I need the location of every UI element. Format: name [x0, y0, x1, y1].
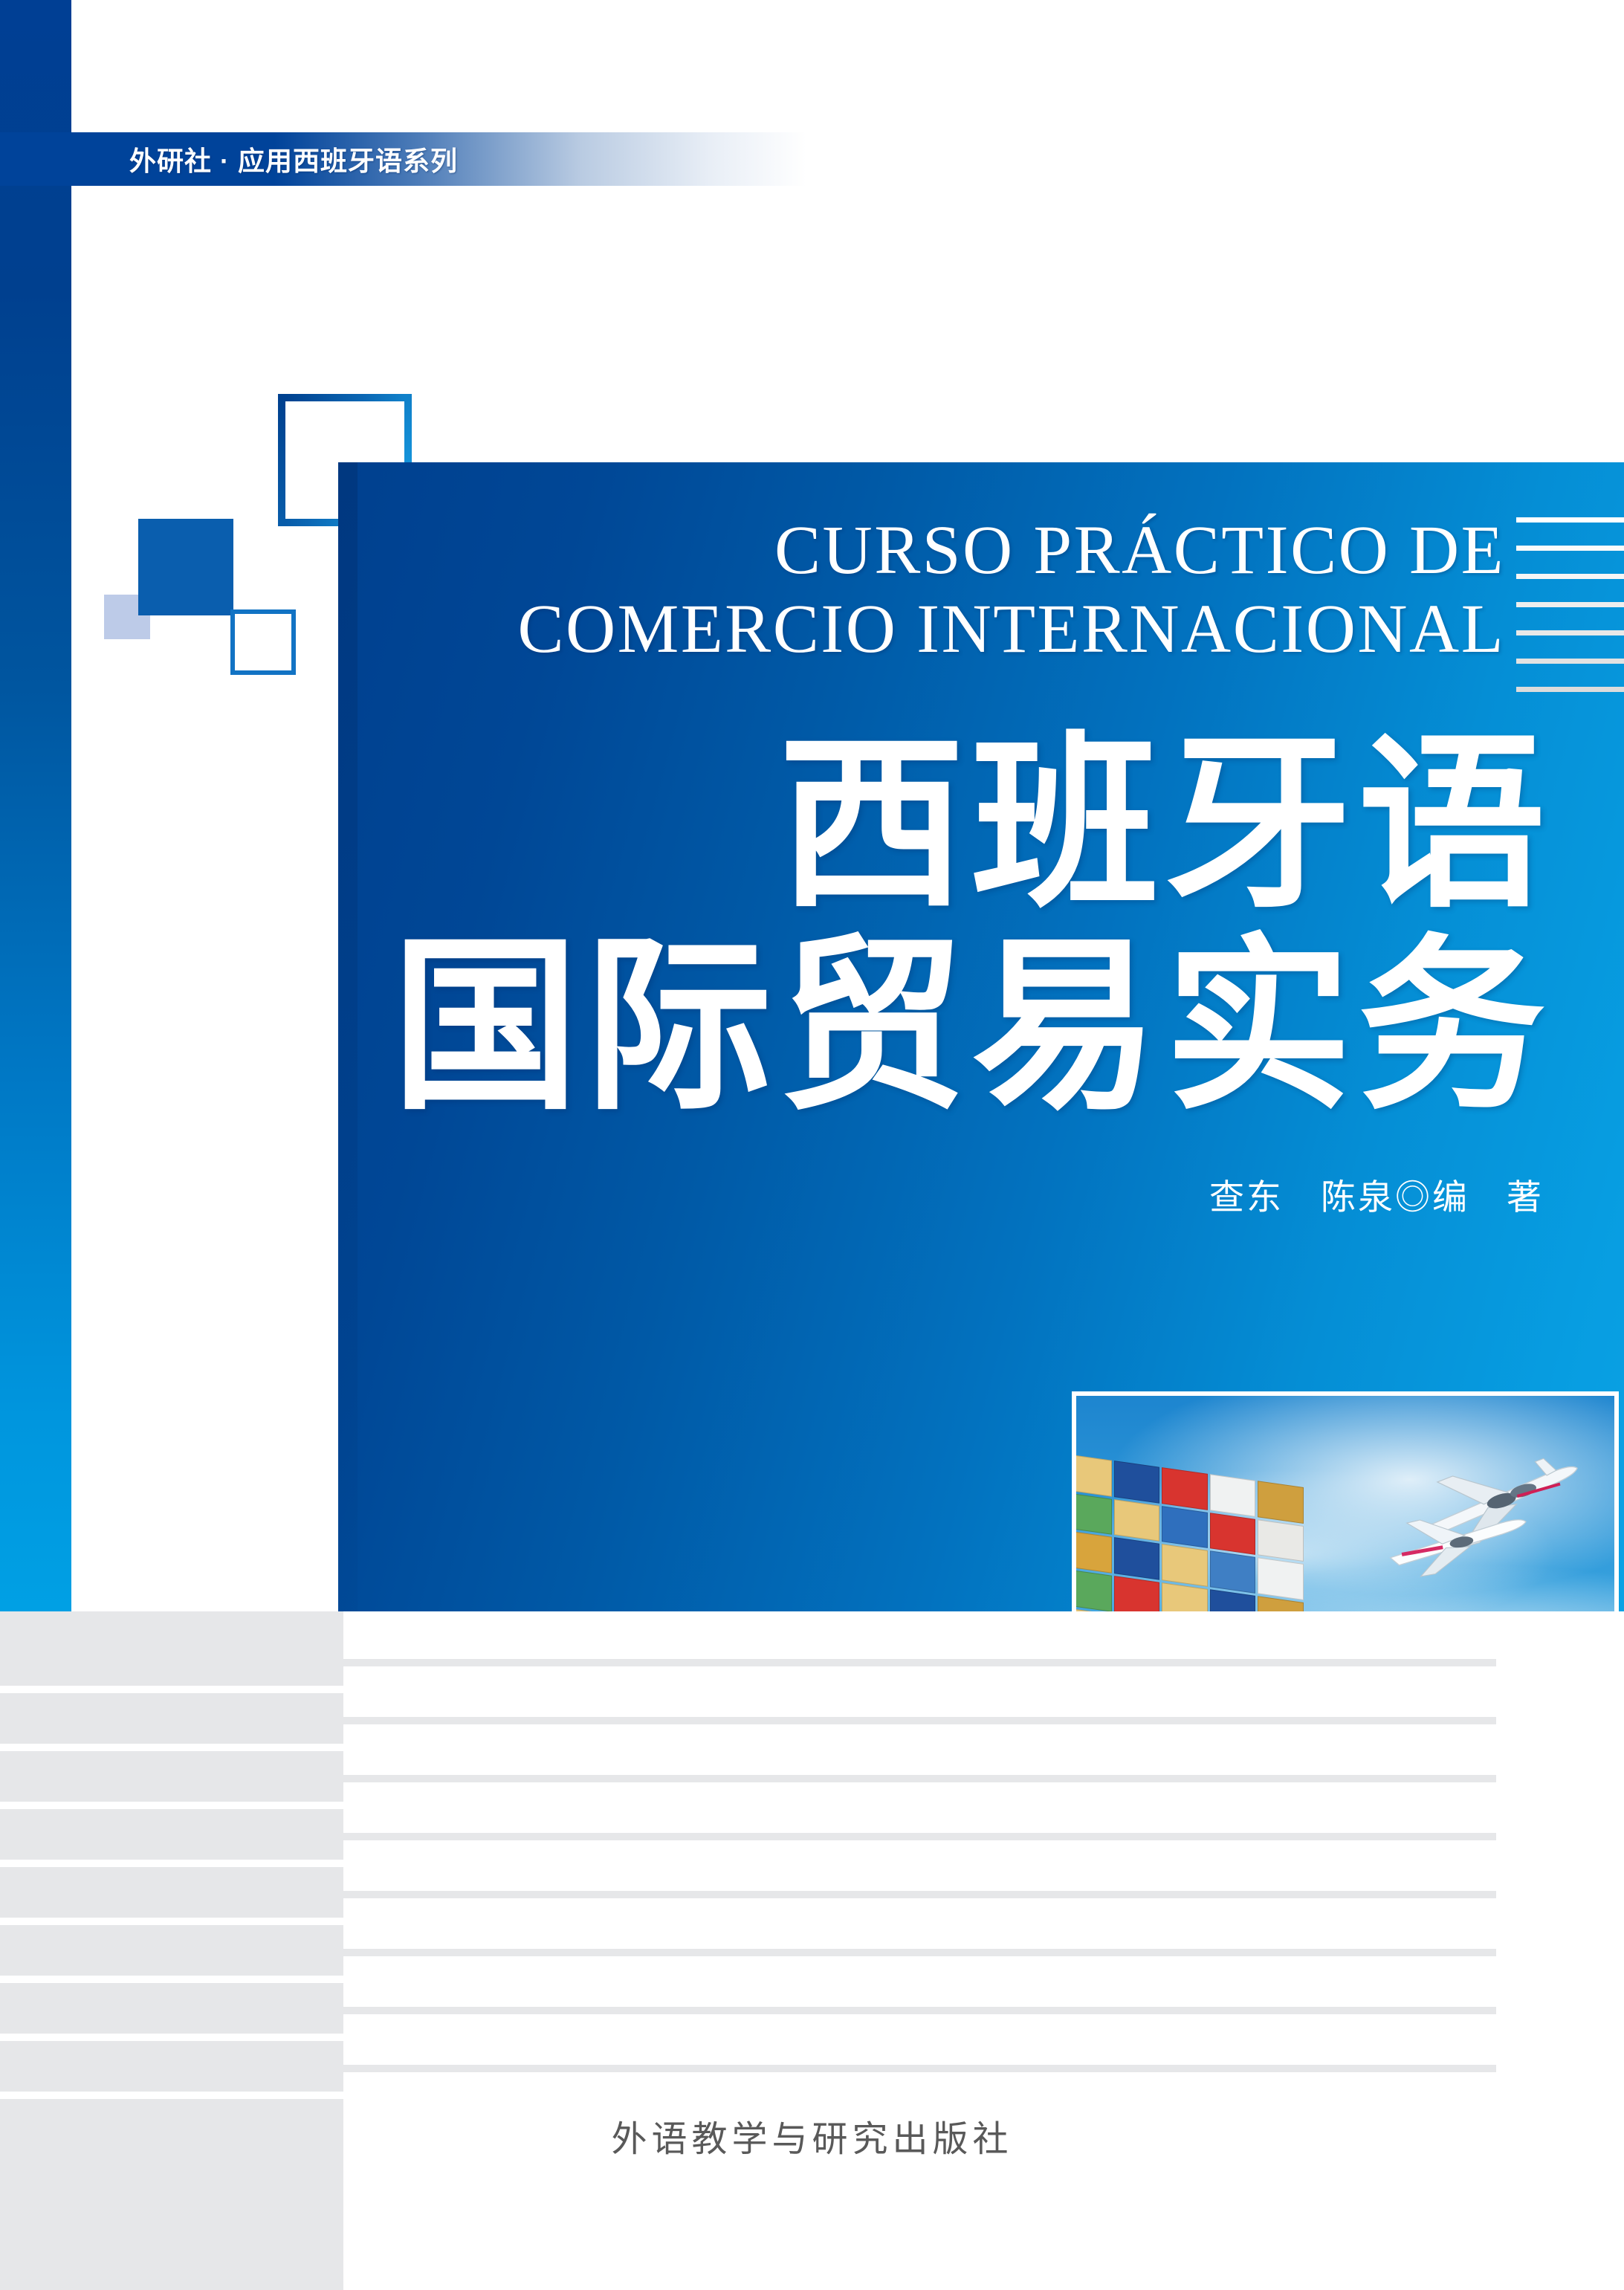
decorative-line: [1516, 574, 1624, 579]
decorative-line: [1516, 659, 1624, 664]
bottom-gray-separator: [0, 1976, 343, 1983]
chinese-title: 西班牙语 国际贸易实务: [338, 724, 1551, 1128]
shipping-container: [1258, 1481, 1304, 1523]
author-line: 查东 陈泉◎编 著: [338, 1168, 1544, 1220]
decorative-line: [1516, 630, 1624, 635]
bottom-stripe: [343, 2065, 1496, 2072]
shipping-container: [1210, 1550, 1256, 1593]
bottom-stripe: [343, 1659, 1496, 1666]
bottom-stripe: [343, 1891, 1496, 1898]
bottom-stripe: [343, 1949, 1496, 1956]
bottom-left-gray-column: [0, 1611, 343, 2290]
shipping-container: [1258, 1519, 1304, 1562]
airplane-secondary-icon: [1378, 1500, 1534, 1585]
shipping-container: [1114, 1461, 1160, 1503]
chinese-title-line-1: 西班牙语: [338, 724, 1551, 926]
series-banner: 外研社 · 应用西班牙语系列: [0, 132, 806, 186]
bottom-gray-separator: [0, 1860, 343, 1867]
shipping-container: [1162, 1467, 1208, 1510]
shipping-container: [1162, 1506, 1208, 1548]
decorative-square-filled-blue: [138, 519, 233, 615]
series-banner-label: 外研社 · 应用西班牙语系列: [129, 140, 458, 178]
shipping-container: [1072, 1454, 1112, 1496]
publisher-name: 外语教学与研究出版社: [0, 2109, 1624, 2161]
bottom-gray-separator: [0, 2092, 343, 2099]
bottom-stripe-section: [0, 1611, 1624, 2290]
shipping-container: [1258, 1558, 1304, 1600]
bottom-stripe: [343, 1833, 1496, 1840]
spanish-title-line-2: COMERCIO INTERNACIONAL: [338, 590, 1505, 669]
decorative-line: [1516, 546, 1624, 551]
shipping-container: [1162, 1544, 1208, 1586]
shipping-container: [1072, 1530, 1112, 1573]
shipping-container: [1210, 1513, 1256, 1555]
bottom-gray-separator: [0, 1802, 343, 1809]
bottom-gray-separator: [0, 1686, 343, 1693]
decorative-line: [1516, 602, 1624, 607]
bottom-gray-separator: [0, 1918, 343, 1925]
bottom-gray-separator: [0, 2034, 343, 2041]
shipping-container: [1072, 1492, 1112, 1535]
chinese-title-line-2: 国际贸易实务: [338, 926, 1551, 1128]
bottom-gray-separator: [0, 1744, 343, 1751]
book-cover: 外研社 · 应用西班牙语系列 CURSO PRÁCTICO DE COMERCI…: [0, 0, 1624, 2290]
decorative-square-outline-small: [230, 609, 296, 675]
shipping-container: [1114, 1499, 1160, 1542]
decorative-line: [1516, 517, 1624, 523]
decorative-line: [1516, 687, 1624, 692]
bottom-stripe: [343, 2007, 1496, 2014]
shipping-container: [1210, 1474, 1256, 1516]
bottom-stripe: [343, 1717, 1496, 1724]
spanish-title-line-1: CURSO PRÁCTICO DE: [338, 511, 1505, 590]
spanish-title: CURSO PRÁCTICO DE COMERCIO INTERNACIONAL: [338, 511, 1505, 669]
decorative-line-strips: [1516, 517, 1624, 696]
left-gradient-bar: [0, 0, 71, 1611]
shipping-container: [1072, 1569, 1112, 1611]
shipping-container: [1114, 1537, 1160, 1579]
bottom-stripe: [343, 1775, 1496, 1782]
